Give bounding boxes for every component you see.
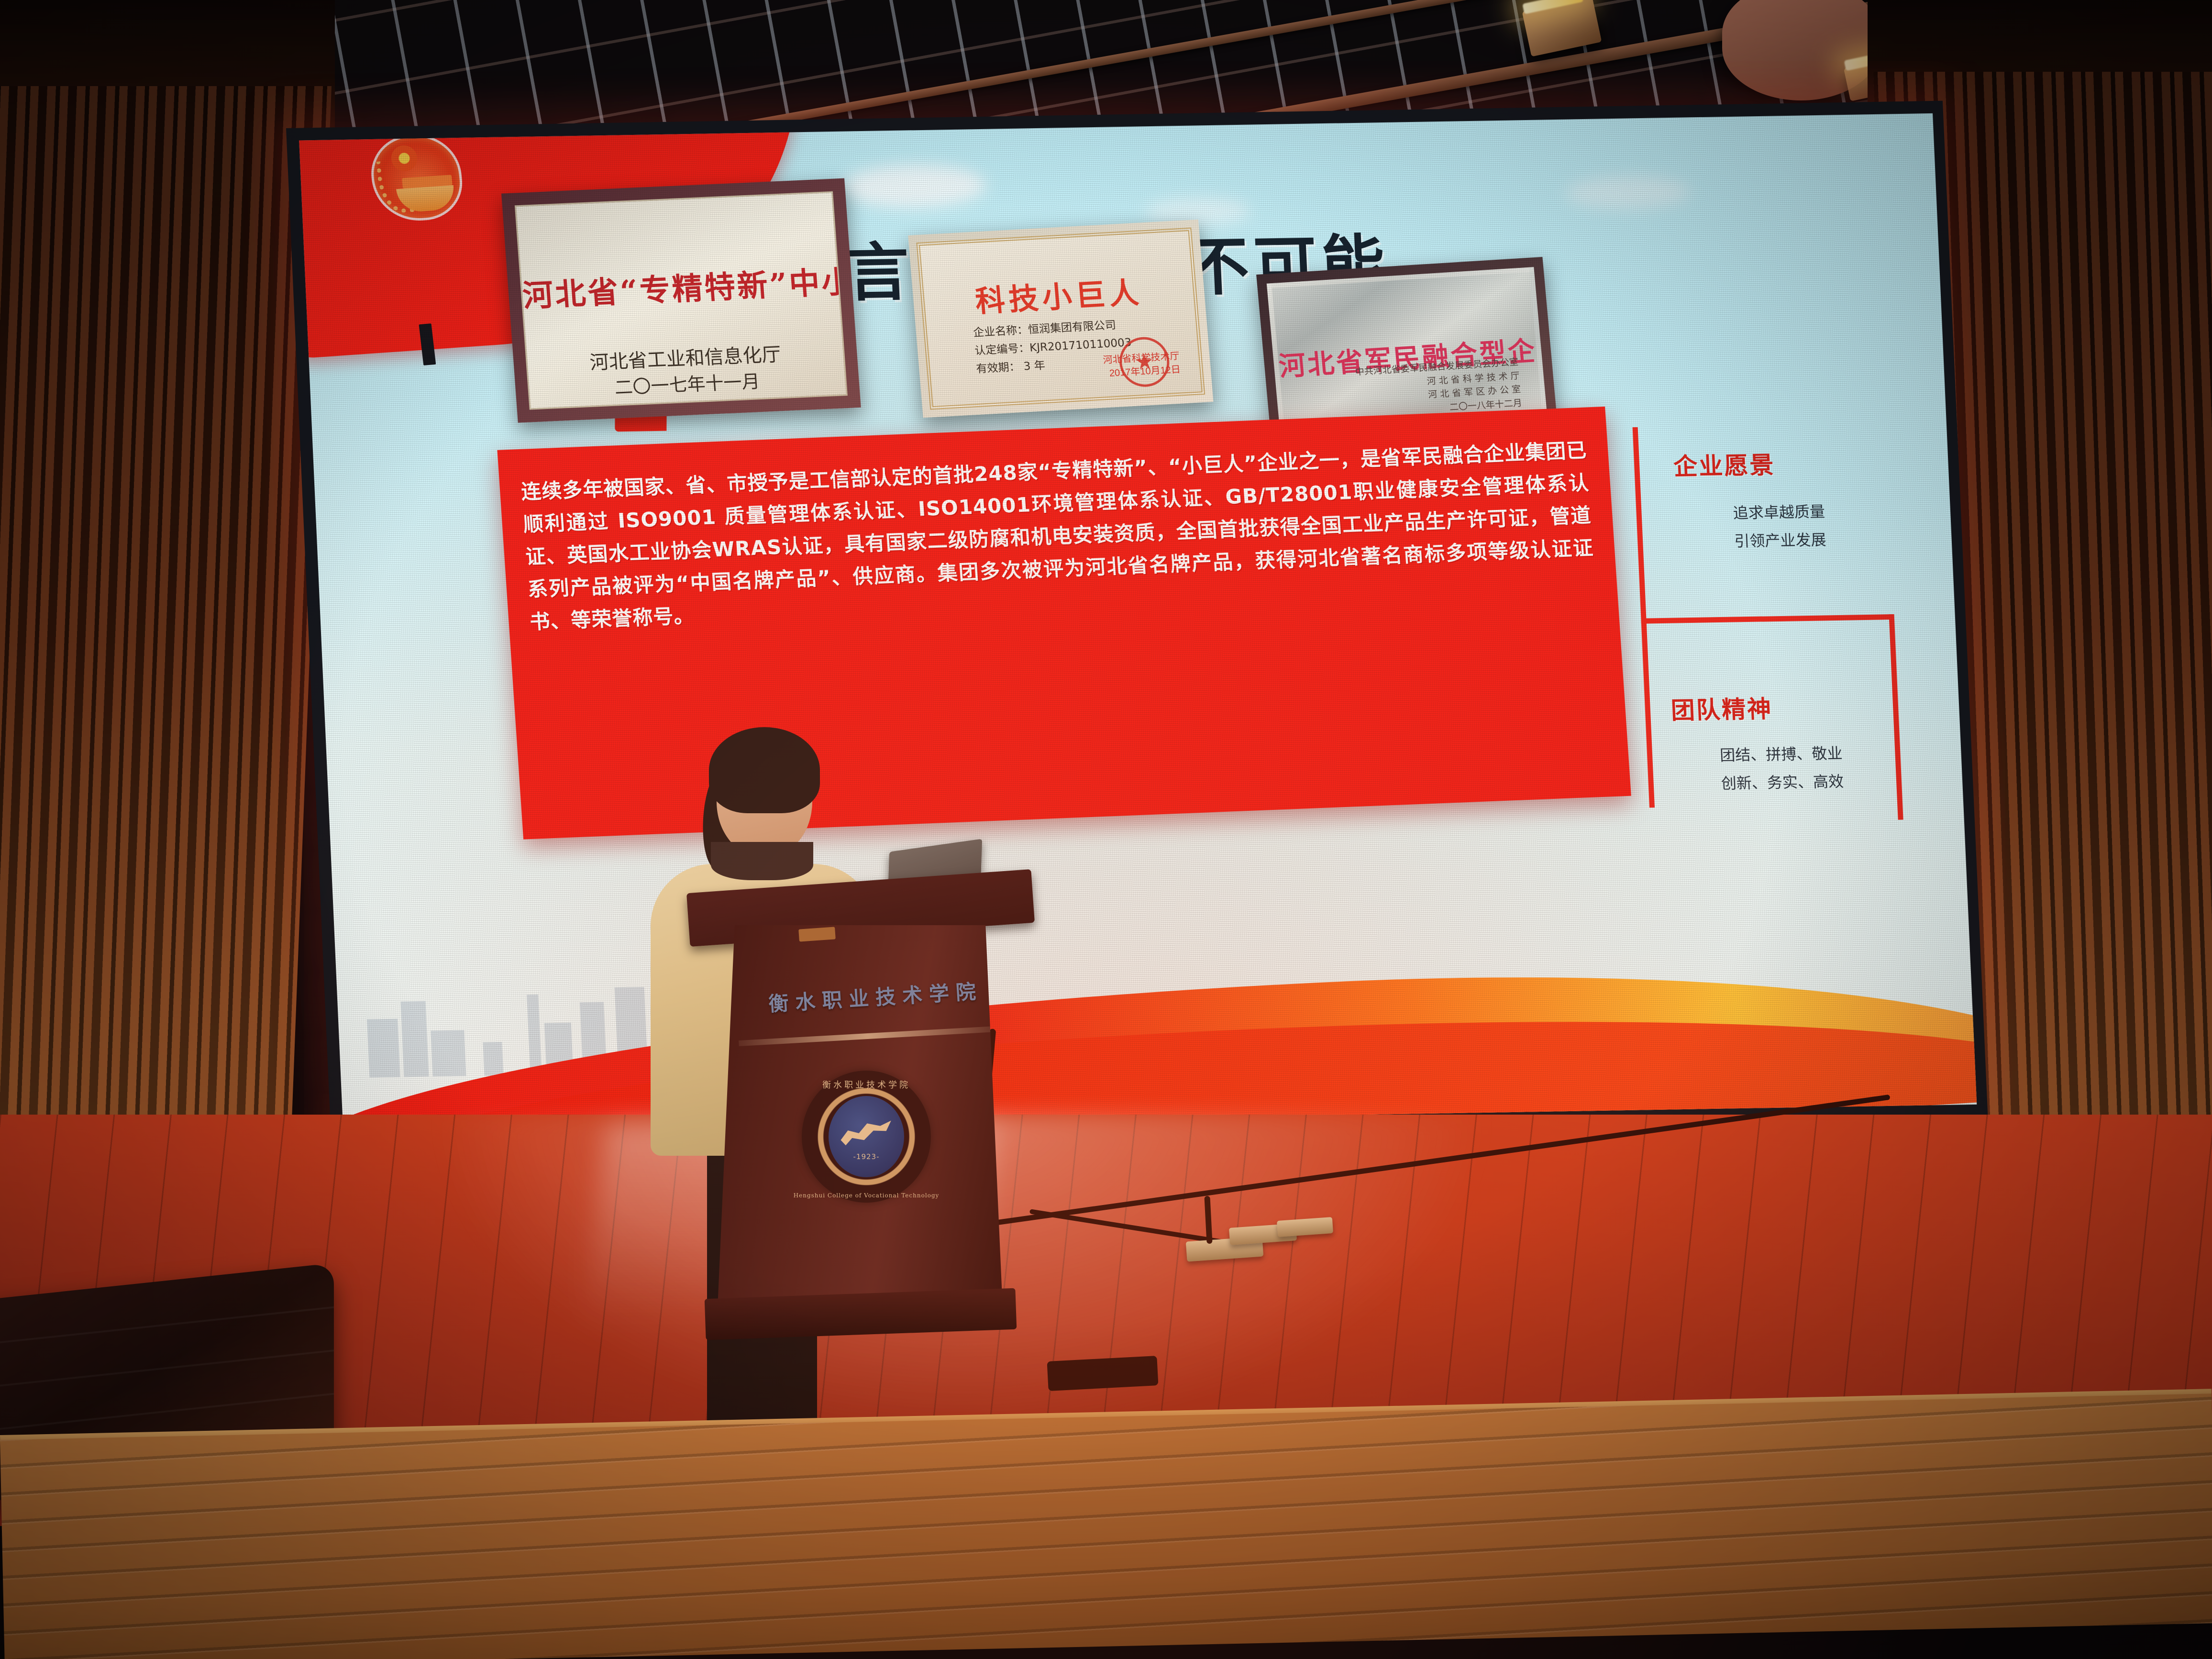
plaque-face: 河北省“专精特新”中小企业 河北省工业和信息化厅 二〇一七年十一月 [515,191,848,410]
speaker-slat [0,1393,334,1432]
plaque-signatories: 中共河北省委军民融合发展委员会办公室 河 北 省 科 学 技 术 厅 河 北 省… [1355,355,1523,420]
led-screen: 永不言败，挑战不可能 河北省“专精特新”中小企业 河北省工业和信息化厅 二〇一七… [286,101,1988,1146]
building [483,1042,503,1076]
plaque-zhuanjingtexin: 河北省“专精特新”中小企业 河北省工业和信息化厅 二〇一七年十一月 [501,178,861,423]
college-emblem-icon: 衡水职业技术学院 -1923- Hengshui College of Voca… [802,1071,931,1203]
slide-body-panel: 连续多年被国家、省、市授予是工信部认定的首批248家“专精特新”、“小巨人”企业… [497,407,1631,840]
spirit-heading: 团队精神 [1670,690,1773,726]
lectern-nameplate-chip [798,927,836,941]
emblem-core: -1923- [829,1096,904,1177]
spirit-lines: 团结、拼搏、敬业 创新、务实、高效 [1719,740,1844,798]
speaker-slat [0,1306,334,1345]
auditorium-stage-photo: 永不言败，挑战不可能 河北省“专精特新”中小企业 河北省工业和信息化厅 二〇一七… [0,0,2212,1659]
building [400,1001,429,1077]
bracket-vertical [1633,427,1655,807]
speaker-slat [0,1349,334,1388]
lectern: 衡水职业技术学院 衡水职业技术学院 -1923- Hengshui Colleg… [710,881,1026,1360]
plaque-keji-xiaojuren: 科技小巨人 企业名称：恒润集团有限公司 认定编号：KJR201710110003… [908,220,1213,418]
presenter-collar [711,842,813,880]
presenter-hair [709,727,820,813]
vision-heading: 企业愿景 [1673,446,1776,482]
plaque-title: 河北省“专精特新”中小企业 [521,258,840,316]
lectern-trim [739,1026,997,1046]
presentation-slide: 永不言败，挑战不可能 河北省“专精特新”中小企业 河北省工业和信息化厅 二〇一七… [299,113,1977,1132]
emblem-name-en: Hengshui College of Vocational Technolog… [794,1192,940,1199]
cloud-3 [1565,175,1691,210]
building [367,1019,400,1078]
plaque-issuer-date: 河北省科学技术厅 2017年10月12日 [1103,350,1181,381]
bird-icon [839,1117,895,1150]
emblem-name-cn: 衡水职业技术学院 [822,1078,910,1091]
building [431,1030,466,1076]
emblem-year: -1923- [853,1152,880,1161]
plaque-title: 科技小巨人 [923,265,1194,323]
plaque-face: 科技小巨人 企业名称：恒润集团有限公司 认定编号：KJR201710110003… [916,228,1205,410]
stage-apron-wood [0,1394,2212,1659]
vision-lines: 追求卓越质量 引领产业发展 [1733,498,1827,555]
lectern-front-panel: 衡水职业技术学院 衡水职业技术学院 -1923- Hengshui Colleg… [718,925,1003,1308]
lectern-institution-label: 衡水职业技术学院 [751,974,1001,1018]
slide-body-text: 连续多年被国家、省、市授予是工信部认定的首批248家“专精特新”、“小巨人”企业… [497,407,1617,639]
youth-league-emblem-icon [368,132,466,223]
bracket-vertical-right [1889,614,1903,820]
bracket-horizontal-top [1641,614,1894,624]
building [527,995,542,1075]
floor-cable-4 [1047,1356,1159,1391]
cloud-1 [841,164,987,209]
